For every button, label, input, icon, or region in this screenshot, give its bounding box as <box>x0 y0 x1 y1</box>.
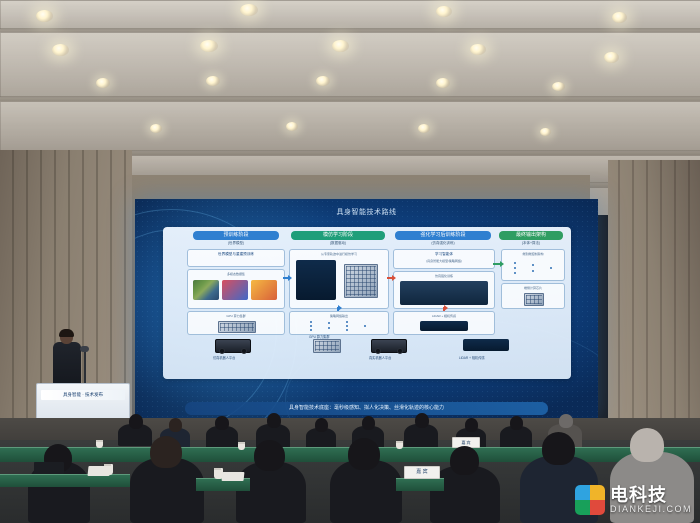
audience-member <box>215 416 229 430</box>
spot-light <box>316 76 330 86</box>
audience-member <box>315 418 328 432</box>
spot-light <box>206 76 220 86</box>
dataset-thumb-image <box>251 280 277 300</box>
watermark: 电科技 DIANKEJI.COM <box>575 485 692 515</box>
spot-light <box>540 128 551 136</box>
stage-subtitle-3: (仿真强化训练) <box>395 241 491 246</box>
brand-name-cn: 电科技 <box>610 486 692 505</box>
spot-light <box>470 44 486 55</box>
stage-header-2: 模仿学习阶段 <box>291 231 385 240</box>
spot-light <box>332 40 349 52</box>
flow-arrow <box>283 277 289 279</box>
laptop <box>34 462 64 474</box>
slide-board: 预训练阶段 (世界模型) 模仿学习阶段 (数据驱动) 强化学习后训练阶段 (仿真… <box>163 227 571 379</box>
coffee-cup <box>396 441 403 449</box>
traj-plot <box>296 260 336 300</box>
panel-chip: 端侧计算芯片 <box>501 283 565 309</box>
audience-member <box>465 418 478 432</box>
stage-subtitle-4: (本体+算法) <box>499 241 563 246</box>
sensor-module <box>463 339 509 351</box>
stage-header-3: 强化学习后训练阶段 <box>395 231 491 240</box>
stage-subtitle-1: (世界模型) <box>193 241 279 246</box>
brand-name-en: DIANKEJI.COM <box>610 505 692 514</box>
sensor-thumb <box>420 321 468 331</box>
spot-light <box>240 4 258 16</box>
audience-member <box>254 440 285 471</box>
audience-member <box>510 416 523 430</box>
spot-light <box>436 6 452 17</box>
panel-expert-traj: 从专家轨迹中进行模仿学习 <box>289 249 389 309</box>
spot-light <box>96 78 110 88</box>
audience-member <box>415 413 429 428</box>
conference-table <box>396 478 444 491</box>
ceiling-panel <box>0 32 700 98</box>
flow-arrow <box>337 307 339 311</box>
brand-logo-icon <box>575 485 605 515</box>
footer-banner: 具身智能技术底座：毫秒级感知、拟人化决策、丝滑化轨迹的核心能力 <box>185 402 548 415</box>
robot-platform-sim <box>215 339 251 353</box>
spot-light <box>36 10 53 22</box>
audience-member <box>542 432 575 465</box>
stage-header-4: 最终输出架构 <box>499 231 563 240</box>
stage-subtitle-2: (数据驱动) <box>291 241 385 246</box>
caption-robot-left: 仿真机器人平台 <box>213 355 235 360</box>
panel-sensor-suite: LiDAR + 相机传感 <box>393 311 495 335</box>
spot-light <box>612 12 627 23</box>
podium-banner: 具身智能 · 技术发布 <box>41 390 125 400</box>
audience-member <box>129 414 143 429</box>
spot-light <box>200 40 218 52</box>
audience-member <box>267 413 281 428</box>
panel-policy-net: 策略网络输出 <box>289 311 389 335</box>
spot-light <box>150 124 162 133</box>
caption-sensor: LiDAR + 相机传感 <box>459 355 485 360</box>
panel-output-arch: 端到端控制架构 <box>501 249 565 281</box>
robot-platform-real <box>371 339 407 353</box>
spot-light <box>286 122 298 131</box>
spot-light <box>604 52 619 63</box>
ceiling-panel <box>0 0 700 30</box>
output-network-diagram <box>514 262 552 274</box>
panel-multimodal-data: 多模态数据集 <box>187 269 285 309</box>
caption-robot-right: 真实机器人平台 <box>369 355 391 360</box>
dataset-thumb-satellite <box>193 280 219 300</box>
panel-gpu-cluster: GPU 算力集群 <box>187 311 285 335</box>
nameplate-2: 嘉 宾 <box>404 466 440 479</box>
coffee-cup <box>238 442 245 450</box>
spot-light <box>436 78 450 88</box>
spot-light <box>52 44 69 56</box>
panel-sim-train: 仿真强化训练 <box>393 271 495 309</box>
chip-compute <box>344 264 378 298</box>
flow-arrow <box>493 263 501 265</box>
ceiling-panel <box>0 101 700 152</box>
audience-member <box>150 436 182 468</box>
audience-member <box>236 462 306 523</box>
gpu-chip <box>218 321 256 333</box>
flow-arrow <box>387 277 393 279</box>
panel-learning-body: 学习智能体 (具身智能大模型/策略网络) <box>393 249 495 269</box>
watermark-text: 电科技 DIANKEJI.COM <box>610 486 692 514</box>
audience-member <box>362 416 375 430</box>
spot-light <box>552 82 565 91</box>
gpu-cluster-icon <box>313 339 341 353</box>
conference-hall-photo: 具身智能技术路线 预训练阶段 (世界模型) 模仿学习阶段 (数据驱动) 强化学习… <box>0 0 700 523</box>
paper-document <box>222 472 245 481</box>
audience-member <box>169 418 182 432</box>
dataset-thumb-pointcloud <box>222 280 248 300</box>
sim-environment-view <box>400 281 488 305</box>
audience-member <box>450 446 479 475</box>
audience-member <box>348 438 380 470</box>
microphone-stand <box>84 352 86 386</box>
coffee-cup <box>104 464 113 475</box>
policy-network-diagram <box>310 321 368 331</box>
coffee-cup <box>96 440 103 448</box>
spot-light <box>418 124 430 133</box>
edge-chip <box>524 293 544 306</box>
right-wall <box>608 160 700 450</box>
speaker <box>52 330 82 388</box>
screen-content: 具身智能技术路线 预训练阶段 (世界模型) 模仿学习阶段 (数据驱动) 强化学习… <box>135 199 598 421</box>
audience-member <box>559 414 573 428</box>
conference-table <box>0 474 130 487</box>
slide-header: 具身智能技术路线 <box>135 207 598 217</box>
panel-world-model: 世界模型与重建预训练 <box>187 249 285 267</box>
stage-header-1: 预训练阶段 <box>193 231 279 240</box>
audience-member <box>630 428 664 462</box>
flow-arrow <box>443 307 445 311</box>
caption-gpu: GPU 算力集群 <box>309 334 330 339</box>
led-screen: 具身智能技术路线 预训练阶段 (世界模型) 模仿学习阶段 (数据驱动) 强化学习… <box>135 199 598 421</box>
